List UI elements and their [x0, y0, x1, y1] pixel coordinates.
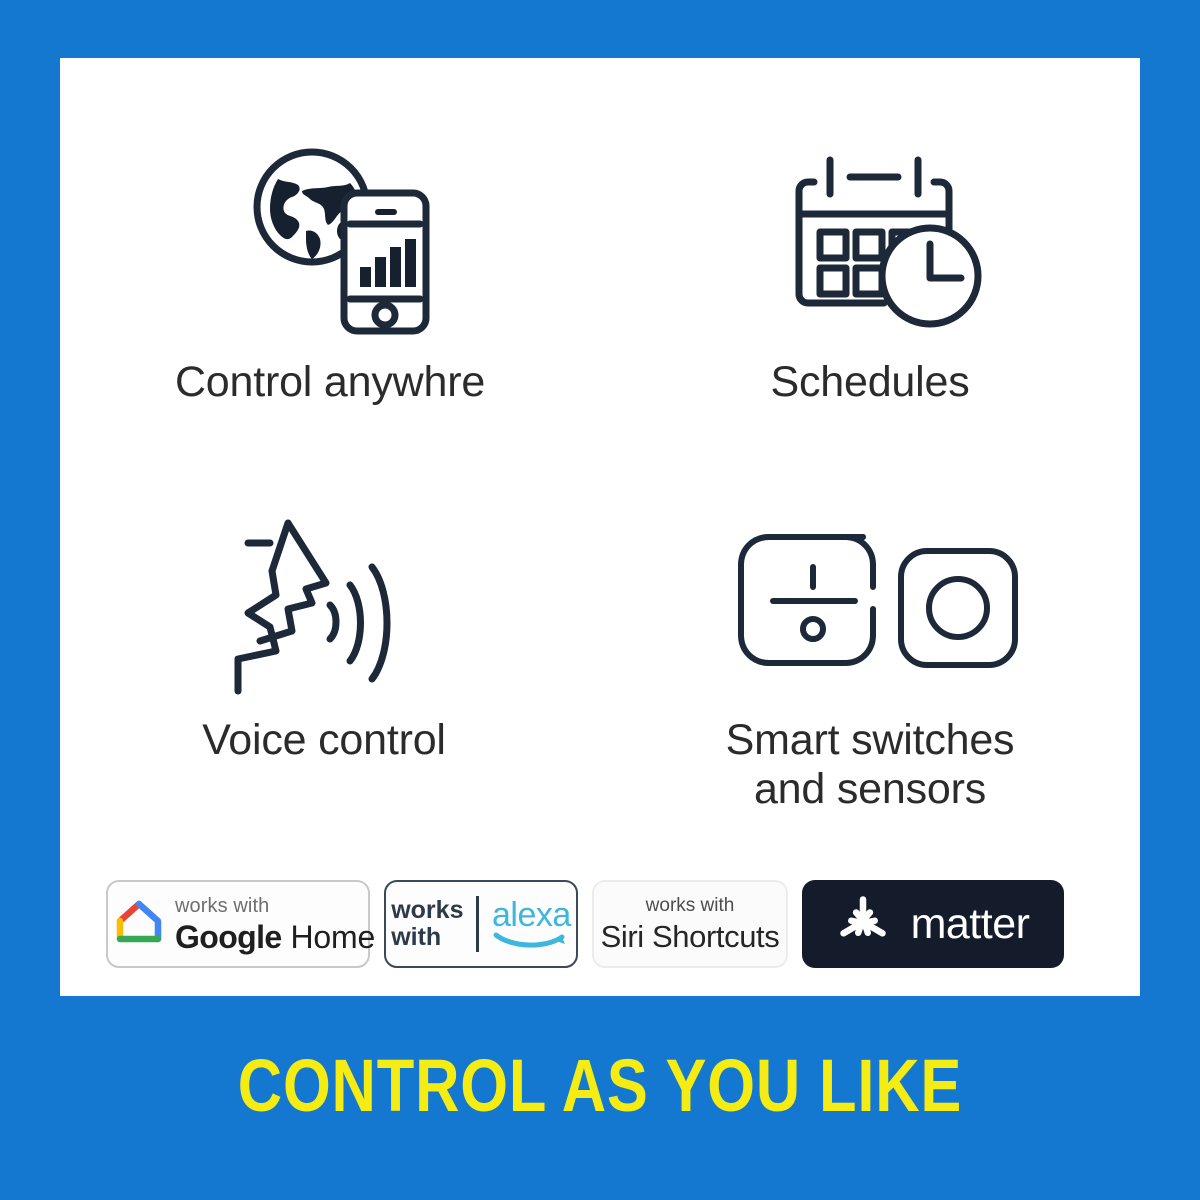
alexa-wordmark: alexa [492, 899, 571, 931]
feature-schedules: Schedules [600, 120, 1140, 500]
google-wordmark: Google [175, 919, 282, 955]
matter-wordmark: matter [911, 903, 1030, 946]
alexa-works-line1: works [391, 896, 463, 924]
feature-label: Schedules [770, 358, 969, 407]
badge-works-with-alexa[interactable]: works with alexa [384, 880, 578, 968]
home-wordmark: Home [290, 919, 375, 955]
matter-logo-icon [837, 896, 889, 953]
feature-control-anywhere: Control anywhre [60, 120, 600, 500]
globe-phone-icon [240, 134, 440, 344]
feature-label: Control anywhre [175, 358, 485, 407]
alexa-works-line2: with [391, 923, 441, 951]
feature-card: Control anywhre [60, 58, 1140, 996]
google-home-brand: Google Home [175, 921, 375, 953]
alexa-logo: alexa [479, 899, 571, 948]
compatibility-badge-row: works with Google Home works with alexa [106, 878, 1096, 970]
works-with-label: works with [646, 896, 735, 915]
feature-label: Voice control [202, 716, 446, 765]
badge-matter[interactable]: matter [802, 880, 1064, 968]
works-with-label: works with [175, 896, 375, 916]
alexa-works-with-label: works with [391, 897, 476, 951]
switch-sensor-icon [733, 506, 1023, 702]
siri-text: works with Siri Shortcuts [601, 896, 780, 952]
alexa-smile-icon [493, 932, 569, 949]
siri-shortcuts-brand: Siri Shortcuts [601, 921, 780, 952]
speaking-head-icon [218, 506, 418, 702]
badge-works-with-google-home[interactable]: works with Google Home [106, 880, 370, 968]
google-home-text: works with Google Home [175, 896, 375, 953]
feature-label-line1: Smart switches [726, 716, 1015, 764]
feature-label-line2: and sensors [754, 765, 986, 813]
page-headline: CONTROL AS YOU LIKE [102, 1043, 1098, 1128]
feature-voice-control: Voice control [60, 500, 600, 880]
google-home-icon [115, 899, 163, 950]
feature-label: Smart switches and sensors [726, 716, 1015, 813]
feature-smart-switches: Smart switches and sensors [600, 500, 1140, 880]
calendar-clock-icon [784, 134, 984, 344]
badge-works-with-siri-shortcuts[interactable]: works with Siri Shortcuts [592, 880, 788, 968]
feature-grid: Control anywhre [60, 120, 1140, 880]
